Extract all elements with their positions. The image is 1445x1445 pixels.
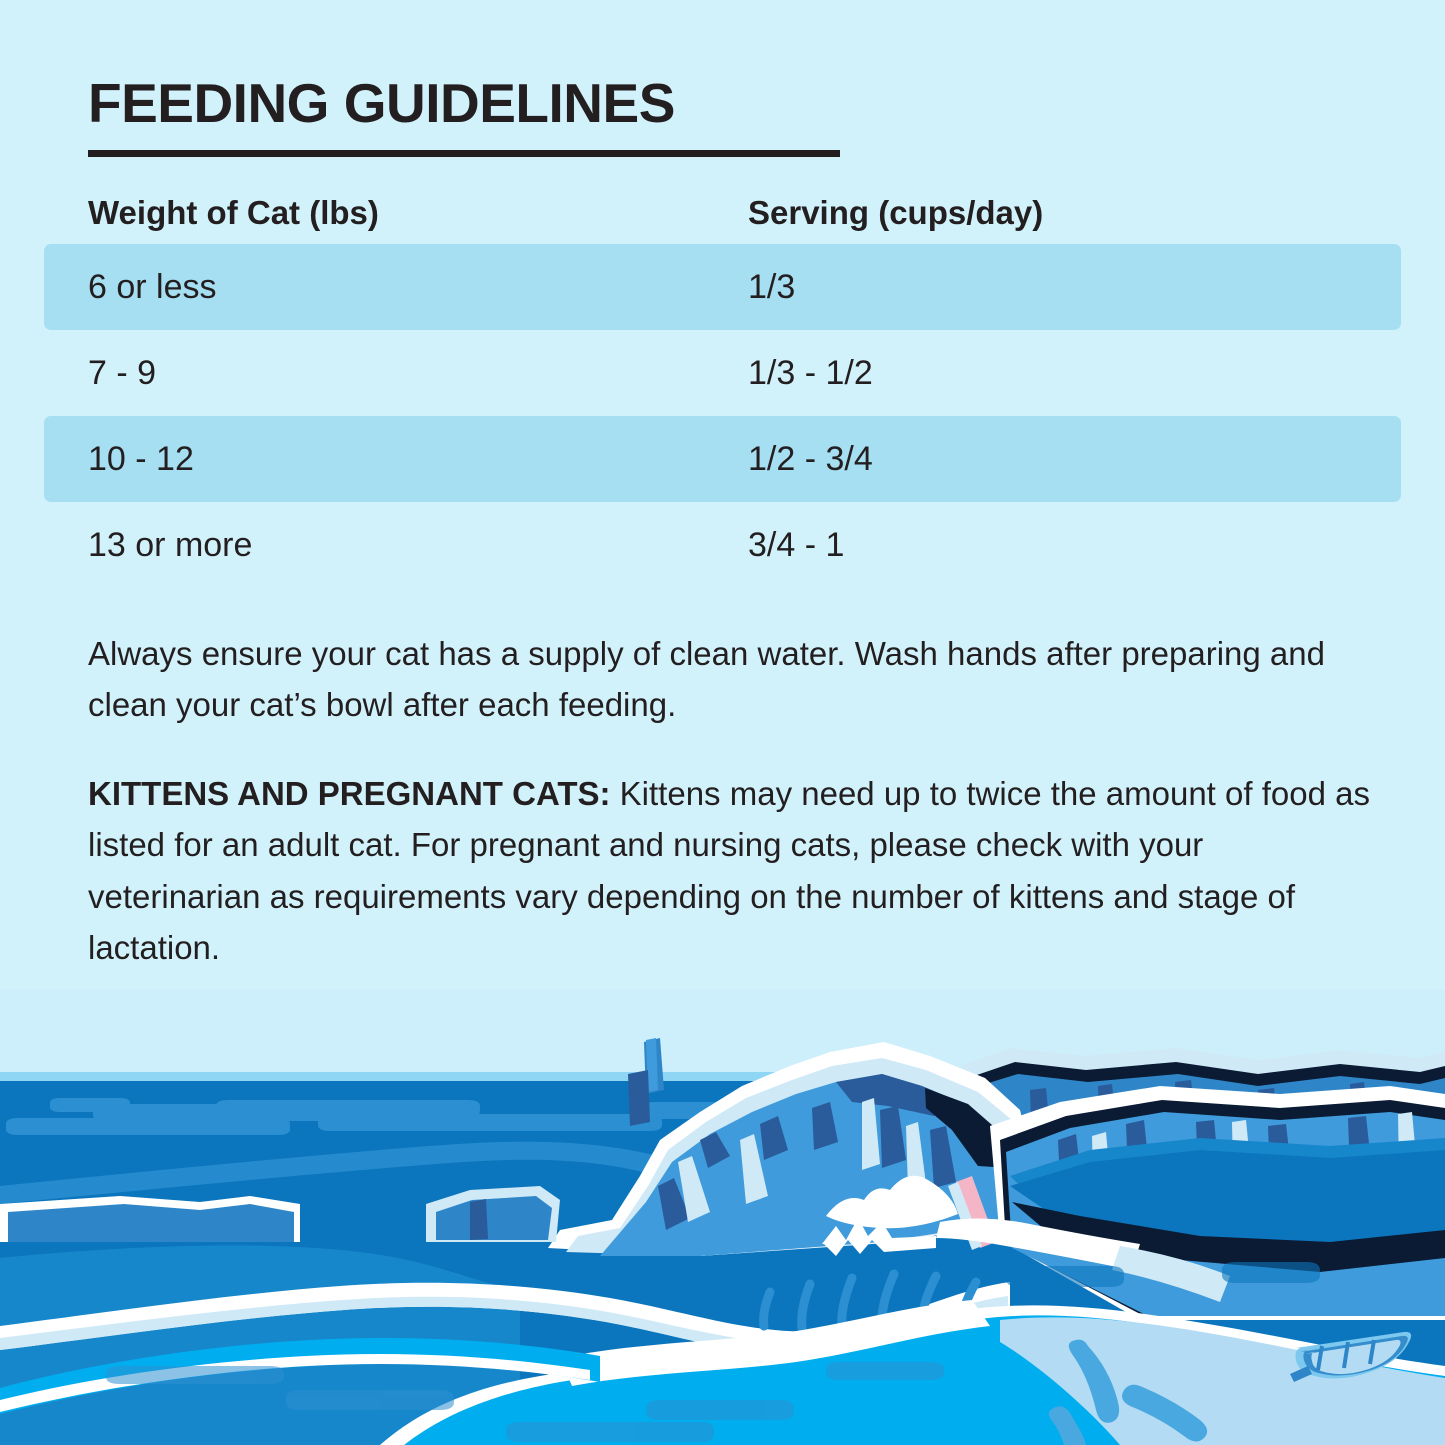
column-header-weight: Weight of Cat (lbs) [88,194,379,232]
cell-weight: 7 - 9 [88,356,156,390]
arctic-ocean-illustration [0,990,1445,1445]
page-title: FEEDING GUIDELINES [88,76,675,131]
cell-serving: 1/3 - 1/2 [748,356,873,390]
row-band [44,244,1401,330]
cell-serving: 1/3 [748,270,795,304]
row-band [44,416,1401,502]
left-ledge-crevasse [470,1199,488,1240]
table-row: 7 - 9 1/3 - 1/2 [0,330,1445,416]
table-row: 6 or less 1/3 [0,244,1445,330]
arctic-scene-svg [0,990,1445,1445]
row-band [44,330,1401,416]
cell-weight: 13 or more [88,528,252,562]
cell-serving: 1/2 - 3/4 [748,442,873,476]
table-row: 10 - 12 1/2 - 3/4 [0,416,1445,502]
column-header-serving: Serving (cups/day) [748,194,1043,232]
kittens-note-paragraph: KITTENS AND PREGNANT CATS: Kittens may n… [88,768,1378,974]
cell-weight: 6 or less [88,270,217,304]
table-row: 13 or more 3/4 - 1 [0,502,1445,588]
ice-spire-base [628,1070,650,1126]
table-header-row: Weight of Cat (lbs) Serving (cups/day) [0,186,1445,244]
left-low-shelf-face [8,1204,294,1242]
water-note-paragraph: Always ensure your cat has a supply of c… [88,628,1378,731]
cell-serving: 3/4 - 1 [748,528,844,562]
cell-weight: 10 - 12 [88,442,194,476]
feeding-guidelines-panel: FEEDING GUIDELINES Weight of Cat (lbs) S… [0,0,1445,1445]
title-underline-rule [88,150,840,157]
kittens-note-label: KITTENS AND PREGNANT CATS: [88,775,611,812]
feeding-table: Weight of Cat (lbs) Serving (cups/day) 6… [0,186,1445,588]
